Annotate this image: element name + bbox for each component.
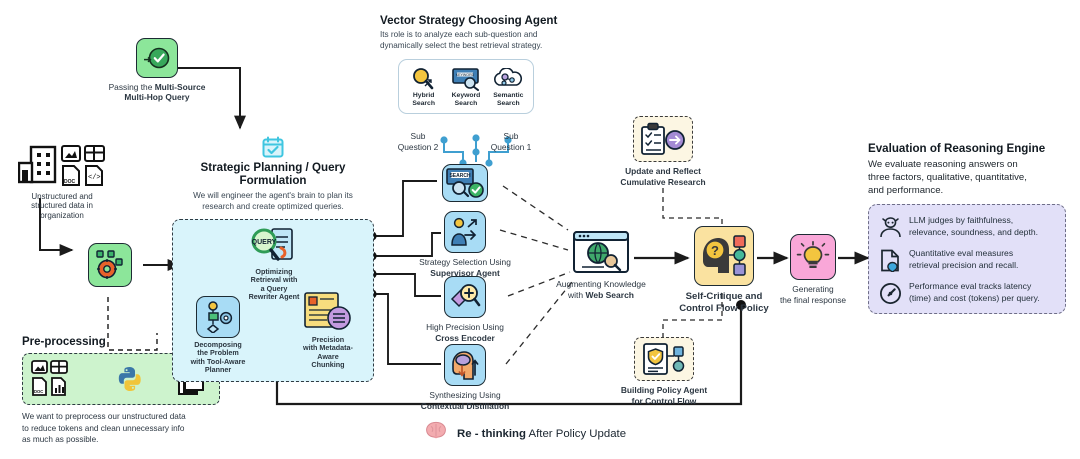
svg-text:SEARCH: SEARCH xyxy=(449,173,471,179)
update-reflect-label: Update and Reflect Cumulative Research xyxy=(598,166,728,187)
web-search-glyph xyxy=(572,230,630,276)
pipeline-node-cross-encoder: High Precision Using Cross Encoder xyxy=(444,276,488,343)
ws-plain: Augmenting Knowledge xyxy=(556,279,646,289)
keyword-search-glyph: KEYWORD xyxy=(451,67,481,91)
svg-text:?: ? xyxy=(711,243,719,258)
evaluation-item-quantitative: Quantitative eval measures retrieval pre… xyxy=(878,248,1056,272)
pp-line-2: to reduce tokens and clean unnecessary i… xyxy=(22,424,185,433)
svg-text:QUERY: QUERY xyxy=(252,239,277,246)
web-search-node: Augmenting Knowledge with Web Search xyxy=(570,230,632,300)
ss-l2: Search xyxy=(497,100,520,107)
speedometer-glyph xyxy=(879,282,902,305)
ur-l2: Cumulative Research xyxy=(620,177,705,187)
evaluation-item-performance: Performance eval tracks latency (time) a… xyxy=(878,281,1056,305)
strategic-planning-panel: QUERY Optimizing Retrieval with a Query … xyxy=(172,219,374,382)
sq1-l2: Question 1 xyxy=(491,142,532,152)
clipboard-refresh-glyph xyxy=(639,122,687,156)
contextual-distillation-glyph xyxy=(449,349,481,381)
hybrid-search-glyph xyxy=(411,67,437,91)
ur-l1: Update and Reflect xyxy=(625,166,701,176)
keyword-search-label: Keyword Search xyxy=(445,92,487,108)
office-building-icon xyxy=(18,144,58,186)
data-sources-caption: Unstructured and structured data in orga… xyxy=(14,192,110,220)
sq2-l1: Sub xyxy=(411,131,426,141)
check-circle-arrow-glyph xyxy=(142,44,172,72)
ev3-l2: (time) and cost (tokens) per query. xyxy=(909,293,1040,303)
distillation-label: Synthesizing Using Contextual Distillati… xyxy=(390,390,540,411)
calendar-check-icon xyxy=(172,136,374,158)
speedometer-icon xyxy=(878,281,902,305)
web-search-icon xyxy=(570,230,632,276)
ce-plain: High Precision Using xyxy=(426,322,504,332)
strategy-option-keyword[interactable]: KEYWORD Keyword Search xyxy=(445,66,487,108)
svg-text:DOC: DOC xyxy=(34,389,43,394)
pc2-l4: Planner xyxy=(205,365,231,374)
flowchart-gear-icon xyxy=(196,296,240,338)
supervisor-label: Strategy Selection Using Supervisor Agen… xyxy=(395,257,535,278)
vs-sub-1: Its role is to analyze each sub-question… xyxy=(380,30,537,39)
sup-plain: Strategy Selection Using xyxy=(419,257,511,267)
calendar-check-glyph xyxy=(262,136,284,158)
rt-plain: After Policy Update xyxy=(529,428,627,440)
update-reflect-node: Update and Reflect Cumulative Research xyxy=(633,116,693,187)
ds-line-1: Unstructured and xyxy=(31,192,92,201)
vector-strategy-title: Vector Strategy Choosing Agent xyxy=(380,14,560,27)
metadata-chunking-glyph xyxy=(301,290,355,334)
ev-sub-3: and performance. xyxy=(868,185,943,196)
semantic-search-label: Semantic Search xyxy=(488,92,528,108)
flowchart-gear-glyph xyxy=(201,301,235,333)
search-verified-icon: SEARCH xyxy=(442,164,488,202)
policy-shield-icon xyxy=(634,337,694,381)
query-rewriter-glyph: QUERY xyxy=(248,226,300,266)
svg-text:DOC: DOC xyxy=(64,179,76,185)
search-verified-glyph: SEARCH xyxy=(445,167,485,199)
ss-l1: Semantic xyxy=(493,92,523,99)
vs-sub-2: dynamically select the best retrieval st… xyxy=(380,41,542,50)
supervisor-agent-icon xyxy=(444,211,486,253)
svg-text:KEYWORD: KEYWORD xyxy=(456,73,475,77)
vector-strategy-subtitle: Its role is to analyze each sub-question… xyxy=(380,29,560,51)
self-critique-head-glyph: ? xyxy=(699,233,749,279)
ds-line-3: organization xyxy=(40,211,84,220)
sp-sub-1: We will engineer the agent's brain to pl… xyxy=(193,191,353,200)
pipeline-node-distillation: Synthesizing Using Contextual Distillati… xyxy=(444,344,488,411)
planning-card-decomposing: Decomposing the Problem with Tool-Aware … xyxy=(181,296,255,374)
preprocessing-description: We want to preprocess our unstructured d… xyxy=(22,411,222,446)
final-response-node: Generating the final response xyxy=(790,234,838,305)
sub-question-1-label: Sub Question 1 xyxy=(478,131,544,153)
check-circle-arrow-icon xyxy=(136,38,178,78)
final-response-label: Generating the final response xyxy=(753,284,873,305)
ev-sub-2: three factors, qualitative, quantitative… xyxy=(868,172,1027,183)
policy-agent-node: Building Policy Agent for Control Flow xyxy=(634,337,694,406)
pc3-l4: Chunking xyxy=(311,360,344,369)
entry-caption: Passing the Multi-Source Multi-Hop Query xyxy=(82,83,232,103)
evaluation-item-1-text: LLM judges by faithfulness, relevance, s… xyxy=(909,215,1038,238)
ws-prefix: with xyxy=(568,290,585,300)
semantic-search-glyph xyxy=(493,68,523,90)
sq1-l1: Sub xyxy=(504,131,519,141)
source-files-icon: DOC xyxy=(31,360,77,398)
rt-bold: Re - thinking xyxy=(457,428,526,440)
entry-caption-bold: Multi-Source xyxy=(155,82,206,92)
cross-encoder-icon xyxy=(444,276,486,318)
ce-bold: Cross Encoder xyxy=(435,333,495,343)
organization-data-icon: DOC </> xyxy=(14,144,110,188)
evaluation-item-llm-judge: LLM judges by faithfulness, relevance, s… xyxy=(878,215,1056,239)
planning-card-3-label: Precision with Metadata- Aware Chunking xyxy=(291,336,365,369)
strategic-planning-subtitle: We will engineer the agent's brain to pl… xyxy=(172,190,374,212)
ks-l2: Search xyxy=(455,100,478,107)
strategic-planning-title: Strategic Planning / Query Formulation xyxy=(172,161,374,187)
ev-sub-1: We evaluate reasoning answers on xyxy=(868,159,1018,170)
strategy-options-panel: Hybrid Search KEYWORD Keyword Sear xyxy=(398,59,534,114)
policy-agent-label: Building Policy Agent for Control Flow xyxy=(599,385,729,406)
sp-sub-2: research and create optimized queries. xyxy=(202,202,344,211)
evaluation-item-3-text: Performance eval tracks latency (time) a… xyxy=(909,281,1040,304)
pp-line-1: We want to preprocess our unstructured d… xyxy=(22,412,186,421)
sc-l1: Self-Critique and xyxy=(686,291,763,302)
python-icon xyxy=(116,365,144,393)
hybrid-search-label: Hybrid Search xyxy=(404,92,444,108)
hs-l2: Search xyxy=(412,100,435,107)
rethinking-label: Re - thinking After Policy Update xyxy=(424,421,626,446)
gear-pipeline-icon xyxy=(88,243,132,287)
self-critique-node: ? Self-Critique and Control Flow Policy xyxy=(694,226,754,315)
entry-caption-line2: Multi-Hop Query xyxy=(124,92,189,102)
planning-card-chunking: Precision with Metadata- Aware Chunking xyxy=(291,290,365,369)
ds-line-2: structured data in xyxy=(31,201,93,210)
ev2-l2: retrieval precision and recall. xyxy=(909,260,1018,270)
evaluation-title: Evaluation of Reasoning Engine xyxy=(868,142,1068,155)
cd-plain: Synthesizing Using xyxy=(429,390,500,400)
strategy-option-semantic[interactable]: Semantic Search xyxy=(488,66,528,108)
brain-glyph xyxy=(424,421,448,441)
ev1-l1: LLM judges by faithfulness, xyxy=(909,215,1013,225)
llm-judge-glyph xyxy=(879,216,902,239)
rethinking-text: Re - thinking After Policy Update xyxy=(457,428,626,440)
quantitative-doc-glyph xyxy=(880,249,901,272)
brain-icon xyxy=(424,421,448,446)
supervisor-agent-glyph xyxy=(449,216,481,248)
evaluation-subtitle: We evaluate reasoning answers on three f… xyxy=(868,158,1068,197)
semantic-search-icon xyxy=(488,66,528,92)
ev3-l1: Performance eval tracks latency xyxy=(909,281,1031,291)
pipeline-node-supervisor: Strategy Selection Using Supervisor Agen… xyxy=(444,211,488,278)
planning-card-2-label: Decomposing the Problem with Tool-Aware … xyxy=(181,341,255,374)
ev1-l2: relevance, soundness, and depth. xyxy=(909,227,1038,237)
pp-line-3: as much as possible. xyxy=(22,435,98,444)
sub-question-2-label: Sub Question 2 xyxy=(385,131,451,153)
lightbulb-glyph xyxy=(796,240,830,274)
hybrid-search-icon xyxy=(404,66,444,92)
svg-text:</>: </> xyxy=(88,174,101,182)
fr-l1: Generating xyxy=(792,284,833,294)
data-sources-node: DOC </> Unstructured and structured data… xyxy=(14,144,110,220)
keyword-search-icon: KEYWORD xyxy=(445,66,487,92)
contextual-distillation-icon xyxy=(444,344,486,386)
vector-strategy-section: Vector Strategy Choosing Agent Its role … xyxy=(380,14,560,114)
ws-bold: Web Search xyxy=(585,290,634,300)
strategy-option-hybrid[interactable]: Hybrid Search xyxy=(404,66,444,108)
ingest-gear-node xyxy=(88,243,132,287)
pa-l1: Building Policy Agent xyxy=(621,385,707,395)
cd-bold: Contextual Distillation xyxy=(421,401,509,411)
entry-caption-plain: Passing the xyxy=(109,82,155,92)
evaluation-item-2-text: Quantitative eval measures retrieval pre… xyxy=(909,248,1018,271)
hs-l1: Hybrid xyxy=(413,92,435,99)
self-critique-head-icon: ? xyxy=(694,226,754,286)
quantitative-doc-icon xyxy=(878,248,902,272)
policy-shield-glyph xyxy=(641,342,687,376)
ks-l1: Keyword xyxy=(452,92,481,99)
pipeline-node-search: SEARCH xyxy=(442,164,488,202)
cross-encoder-glyph xyxy=(449,281,481,313)
gear-pipeline-glyph xyxy=(94,249,126,281)
evaluation-panel: LLM judges by faithfulness, relevance, s… xyxy=(868,204,1066,314)
clipboard-refresh-icon xyxy=(633,116,693,162)
sq2-l2: Question 2 xyxy=(398,142,439,152)
metadata-chunking-icon xyxy=(291,290,365,334)
llm-judge-icon xyxy=(878,215,902,239)
evaluation-section: Evaluation of Reasoning Engine We evalua… xyxy=(868,142,1068,314)
diagram-canvas: Passing the Multi-Source Multi-Hop Query… xyxy=(0,0,1080,459)
query-rewriter-icon: QUERY xyxy=(235,226,313,266)
cross-encoder-label: High Precision Using Cross Encoder xyxy=(395,322,535,343)
pa-l2: for Control Flow xyxy=(632,396,697,406)
lightbulb-icon xyxy=(790,234,836,280)
fr-l2: the final response xyxy=(780,295,846,305)
strategic-planning-section: Strategic Planning / Query Formulation W… xyxy=(172,136,374,382)
file-types-icon: DOC </> xyxy=(61,144,107,188)
entry-node: Passing the Multi-Source Multi-Hop Query xyxy=(136,38,232,103)
ev2-l1: Quantitative eval measures xyxy=(909,248,1013,258)
